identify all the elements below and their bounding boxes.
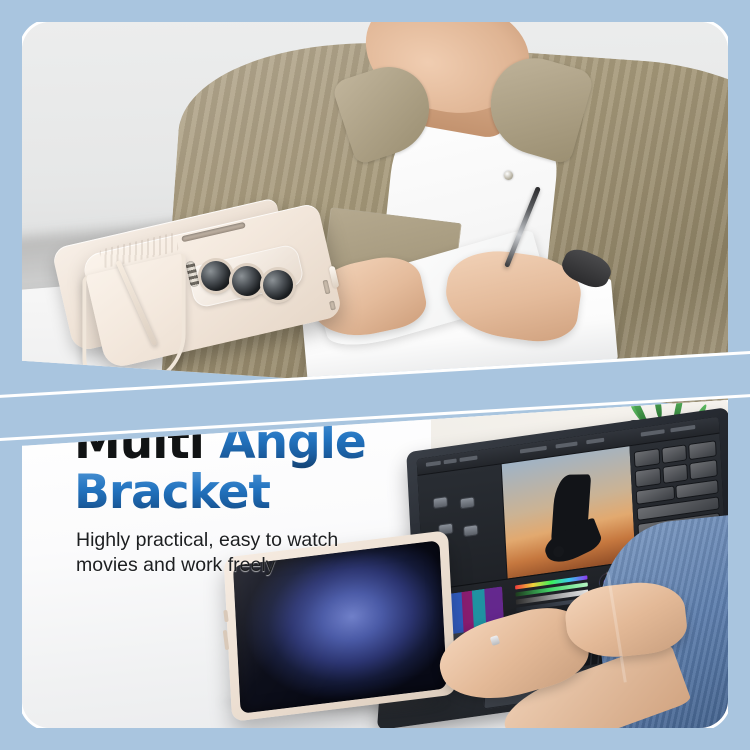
headline-line-1: Multi Angle <box>74 418 366 468</box>
product-image-canvas: Multi Angle Bracket Highly practical, ea… <box>0 0 750 750</box>
headline-word-angle: Angle <box>219 415 365 470</box>
bottom-photo-panel: Multi Angle Bracket Highly practical, ea… <box>22 400 728 728</box>
case-shadow <box>69 380 262 399</box>
headline: Multi Angle Bracket <box>74 418 366 518</box>
kickstand-bracket <box>83 253 186 399</box>
phone-case-product <box>50 215 361 408</box>
headline-line-2: Bracket <box>74 468 366 518</box>
top-photo-panel <box>22 22 728 407</box>
sub-headline: Highly practical, easy to watch movies a… <box>76 528 338 578</box>
headline-word-multi: Multi <box>74 415 219 470</box>
